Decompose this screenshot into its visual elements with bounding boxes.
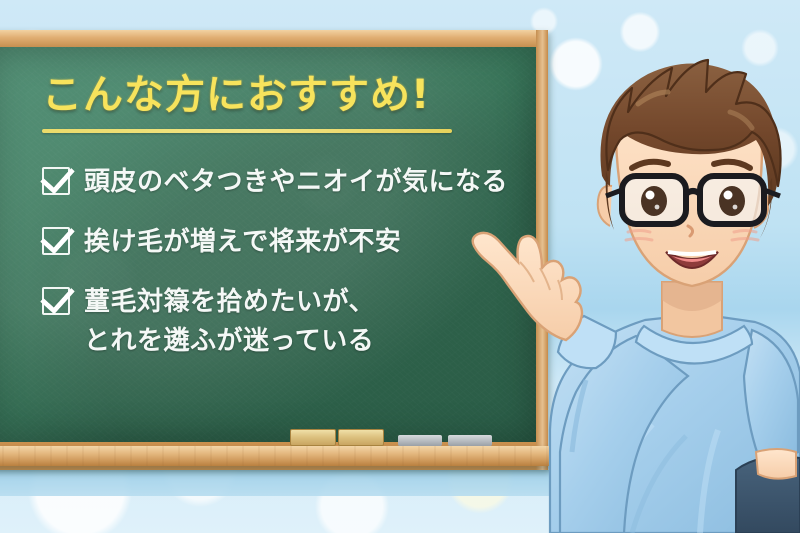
checkbox-checked-icon	[42, 167, 70, 195]
checkbox-checked-icon	[42, 227, 70, 255]
title-underline	[42, 129, 452, 133]
character-head	[598, 60, 781, 286]
checklist-item-text: 挨け毛が増えで将来が不安	[84, 223, 401, 262]
blackboard-eraser-icon	[338, 429, 384, 446]
checkbox-checked-icon	[42, 287, 70, 315]
checklist-line: 挨け毛が増えで将来が不安	[84, 223, 401, 262]
checklist-item-text: 蕫毛対簶を拾めたいが、 とれを遴ふが迷っている	[84, 283, 375, 361]
blackboard-eraser-icon	[290, 429, 336, 446]
checklist-line: 蕫毛対簶を拾めたいが、	[84, 283, 375, 322]
checklist-line: とれを遴ふが迷っている	[84, 322, 375, 361]
character-illustration	[400, 0, 800, 533]
